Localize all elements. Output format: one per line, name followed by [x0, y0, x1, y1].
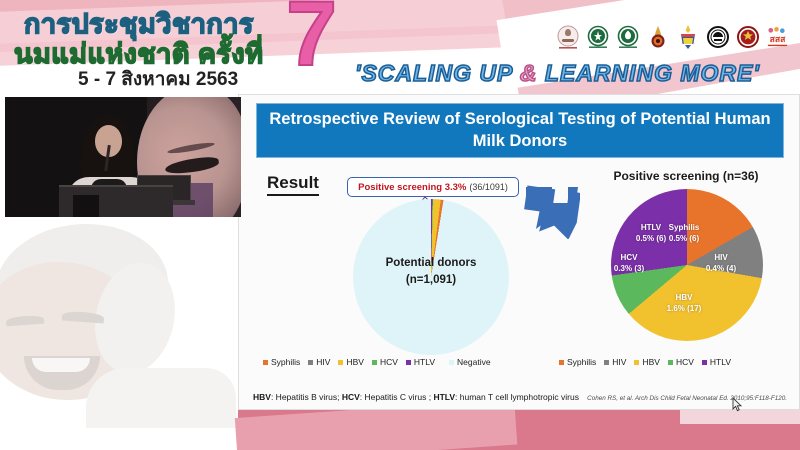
- positive-screening-callout: Positive screening 3.3% (36/1091): [347, 177, 519, 197]
- legend-label-htlv-left: HTLV: [414, 357, 435, 367]
- legend-item-syphilis-left: Syphilis: [263, 357, 300, 367]
- slice-label-hcv-value: 0.3% (3): [607, 264, 651, 275]
- legend-label-syphilis-left: Syphilis: [271, 357, 300, 367]
- tagline-part-2: LEARNING MORE': [537, 60, 759, 86]
- left-pie-center-label: Potential donors (n=1,091): [353, 255, 509, 288]
- tagline-ampersand: &: [520, 60, 538, 86]
- legend-swatch-negative-left: [449, 360, 454, 365]
- slice-label-hiv: HIV 0.4% (4): [695, 253, 747, 275]
- tagline-part-1: 'SCALING UP: [355, 60, 520, 86]
- legend-swatch-hiv-right: [604, 360, 609, 365]
- thaihealth-sss-logo: สสส: [765, 24, 790, 52]
- legend-label-hcv-left: HCV: [380, 357, 398, 367]
- slide-title: Retrospective Review of Serological Test…: [256, 103, 784, 158]
- slice-label-hbv-value: 1.6% (17): [653, 304, 715, 315]
- svg-text:สสส: สสส: [770, 35, 787, 45]
- slice-label-hbv-name: HBV: [653, 293, 715, 304]
- baby-teeth-shape: [32, 358, 90, 372]
- legend-label-negative-left: Negative: [457, 357, 491, 367]
- blue-arrow-icon: [522, 185, 580, 239]
- slice-label-htlv-value: 0.5% (6): [625, 234, 677, 245]
- legend-label-hbv-left: HBV: [346, 357, 363, 367]
- legend-item-hbv-right: HBV: [634, 357, 659, 367]
- callout-highlight-text: Positive screening 3.3%: [358, 182, 466, 193]
- legend-item-hcv-left: HCV: [372, 357, 398, 367]
- legend-swatch-syphilis-right: [559, 360, 564, 365]
- legend-swatch-htlv-right: [702, 360, 707, 365]
- slice-label-hcv-name: HCV: [607, 253, 651, 264]
- left-pie-label-line1: Potential donors: [353, 255, 509, 272]
- legend-label-hiv-left: HIV: [316, 357, 330, 367]
- black-circle-emblem-logo: [705, 24, 730, 52]
- legend-item-htlv-left: HTLV: [406, 357, 435, 367]
- conference-tagline: 'SCALING UP & LEARNING MORE': [355, 60, 760, 87]
- slide-content-area: Retrospective Review of Serological Test…: [238, 94, 800, 410]
- abbreviation-note: HBV: Hepatitis B virus; HCV: Hepatitis C…: [253, 392, 579, 402]
- footnote-abbrev-hbv: HBV: [253, 392, 271, 402]
- legend-swatch-htlv-left: [406, 360, 411, 365]
- baby-body-shape: [86, 368, 236, 428]
- legend-swatch-hbv-left: [338, 360, 343, 365]
- right-pie-legend: Syphilis HIV HBV HCV HTLV: [559, 357, 731, 367]
- slice-label-htlv-name: HTLV: [625, 223, 677, 234]
- department-of-health-logo: [615, 24, 640, 52]
- legend-swatch-hcv-left: [372, 360, 377, 365]
- presentation-screen: การประชุมวิชาการ นมแม่แห่งชาติ ครั้งที่ …: [0, 0, 800, 450]
- legend-label-htlv-right: HTLV: [710, 357, 731, 367]
- webcam-podium-inset: [73, 195, 99, 217]
- ministry-of-public-health-logo: [585, 24, 610, 52]
- slice-label-htlv: HTLV 0.5% (6): [625, 223, 677, 245]
- royal-seal-logo: [555, 24, 580, 52]
- legend-item-negative-left: Negative: [449, 357, 491, 367]
- slice-label-hiv-name: HIV: [695, 253, 747, 264]
- conference-header-banner: การประชุมวิชาการ นมแม่แห่งชาติ ครั้งที่ …: [0, 0, 800, 96]
- conference-date-thai: 5 - 7 สิงหาคม 2563: [78, 64, 238, 94]
- legend-item-hcv-right: HCV: [668, 357, 694, 367]
- result-heading: Result: [267, 173, 319, 196]
- legend-item-htlv-right: HTLV: [702, 357, 731, 367]
- speaker-webcam-video[interactable]: [5, 97, 241, 217]
- thai-pavilion-logo: [645, 24, 670, 52]
- footnote-abbrev-htlv: HTLV: [433, 392, 455, 402]
- conference-edition-number: 7: [286, 0, 337, 80]
- legend-swatch-hiv-left: [308, 360, 313, 365]
- footnote-htlv-text: : human T cell lymphotropic virus: [455, 392, 579, 402]
- webcam-podium: [59, 185, 173, 217]
- red-circle-emblem-logo: [735, 24, 760, 52]
- footnote-abbrev-hcv: HCV: [342, 392, 360, 402]
- baby-watermark-image: [0, 218, 238, 428]
- left-pie-label-line2: (n=1,091): [353, 272, 509, 289]
- legend-label-hiv-right: HIV: [612, 357, 626, 367]
- right-pie-title: Positive screening (n=36): [571, 169, 800, 183]
- legend-item-hiv-right: HIV: [604, 357, 626, 367]
- slice-label-hcv: HCV 0.3% (3): [607, 253, 651, 275]
- legend-swatch-syphilis-left: [263, 360, 268, 365]
- slice-label-hbv: HBV 1.6% (17): [653, 293, 715, 315]
- legend-swatch-hbv-right: [634, 360, 639, 365]
- slice-label-hiv-value: 0.4% (4): [695, 264, 747, 275]
- sponsor-logo-strip: สสส: [555, 24, 790, 52]
- legend-item-hiv-left: HIV: [308, 357, 330, 367]
- legend-label-hbv-right: HBV: [642, 357, 659, 367]
- callout-subtext: (36/1091): [469, 182, 508, 192]
- legend-label-hcv-right: HCV: [676, 357, 694, 367]
- legend-label-syphilis-right: Syphilis: [567, 357, 596, 367]
- footnote-hcv-text: : Hepatitis C virus ;: [360, 392, 434, 402]
- footnote-hbv-text: : Hepatitis B virus;: [271, 392, 342, 402]
- legend-item-hbv-left: HBV: [338, 357, 363, 367]
- left-pie-legend: Syphilis HIV HBV HCV HTLV Negative: [263, 357, 491, 367]
- legend-item-syphilis-right: Syphilis: [559, 357, 596, 367]
- royal-garuda-logo: [675, 24, 700, 52]
- source-citation: Cohen RS, et al. Arch Dis Child Fetal Ne…: [587, 395, 787, 402]
- legend-swatch-hcv-right: [668, 360, 673, 365]
- slide-footnote: HBV: Hepatitis B virus; HCV: Hepatitis C…: [253, 392, 787, 402]
